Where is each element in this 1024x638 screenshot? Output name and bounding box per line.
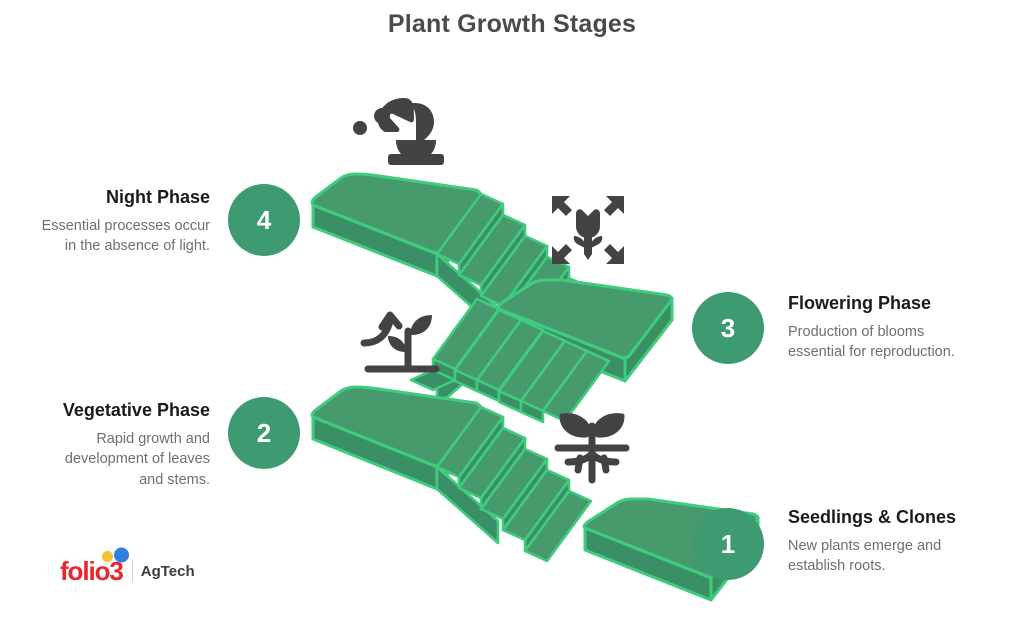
stage-3-description: Production of blooms essential for repro…	[788, 322, 1018, 363]
stage-block-3: Flowering Phase Production of blooms ess…	[788, 292, 1018, 363]
night-moon-icon	[352, 92, 448, 168]
stage-2-heading: Vegetative Phase	[0, 399, 210, 422]
logo-product-text: AgTech	[141, 564, 195, 579]
flower-bloom-icon	[548, 192, 628, 268]
seedling-roots-icon	[550, 408, 634, 488]
logo-blue-dot-icon	[114, 547, 129, 563]
folio3-wordmark: folio3	[60, 558, 123, 584]
stage-block-2: Vegetative Phase Rapid growth and develo…	[0, 399, 210, 490]
stage-badge-4[interactable]: 4	[228, 184, 300, 256]
logo-divider	[132, 560, 133, 582]
stage-1-description: New plants emerge and establish roots.	[788, 536, 1018, 577]
stage-badge-1[interactable]: 1	[692, 508, 764, 580]
stage-3-heading: Flowering Phase	[788, 292, 1018, 315]
stage-block-1: Seedlings & Clones New plants emerge and…	[788, 506, 1018, 577]
stage-1-heading: Seedlings & Clones	[788, 506, 1018, 529]
stage-4-heading: Night Phase	[0, 186, 210, 209]
plant-growth-arrow-icon	[358, 305, 446, 377]
stage-2-description: Rapid growth and development of leaves a…	[0, 429, 210, 491]
stage-3-number: 3	[721, 315, 735, 341]
stage-4-number: 4	[257, 207, 271, 233]
stage-2-number: 2	[257, 420, 271, 446]
stage-badge-3[interactable]: 3	[692, 292, 764, 364]
logo-yellow-dot-icon	[102, 550, 113, 563]
stage-4-description: Essential processes occur in the absence…	[0, 216, 210, 257]
stage-badge-2[interactable]: 2	[228, 397, 300, 469]
stage-block-4: Night Phase Essential processes occur in…	[0, 186, 210, 257]
infographic-canvas: Plant Growth Stages	[0, 0, 1024, 638]
stage-1-number: 1	[721, 531, 735, 557]
folio3-agtech-logo: folio3 AgTech	[60, 558, 195, 584]
